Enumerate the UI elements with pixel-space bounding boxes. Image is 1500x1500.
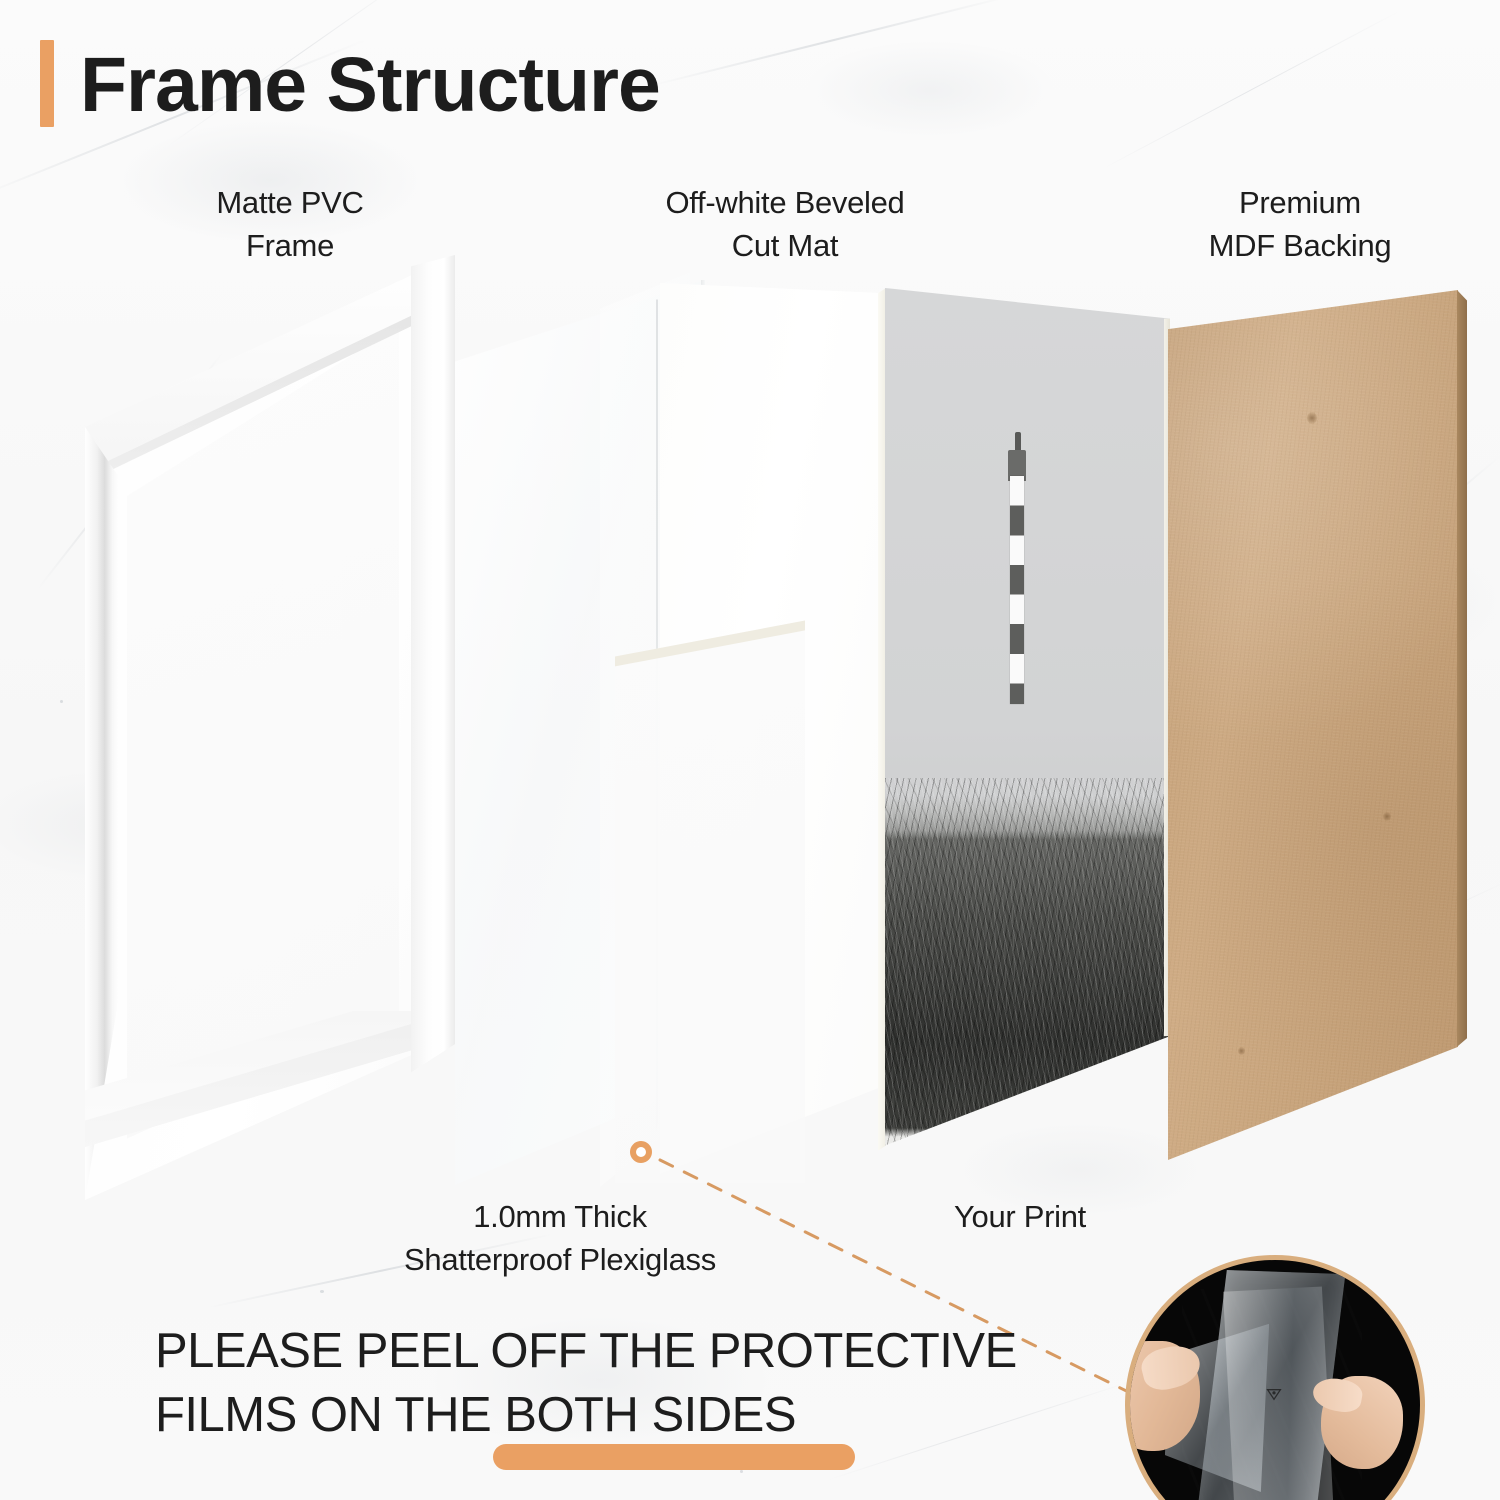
peel-warning-text: PLEASE PEEL OFF THE PROTECTIVE FILMS ON … (155, 1320, 1075, 1447)
mdf-knot (1383, 812, 1391, 821)
dune-grass (885, 778, 1170, 1146)
print-photo (885, 288, 1170, 1163)
layer-mdf-backing (1168, 290, 1458, 1160)
mdf-knot (1238, 1047, 1245, 1055)
warning-line-2-highlight: BOTH SIDES (504, 1388, 796, 1442)
warning-line-1: PLEASE PEEL OFF THE PROTECTIVE (155, 1320, 1075, 1384)
label-line: Shatterproof Plexiglass (280, 1239, 840, 1282)
callout-marker-dot (630, 1141, 652, 1163)
frame-structure-infographic: Frame Structure Matte PVC Frame Off-whit… (0, 0, 1500, 1500)
warning-line-2-prefix: FILMS ON THE (155, 1388, 504, 1442)
film-logo-icon (1266, 1388, 1282, 1401)
label-your-print: Your Print (880, 1196, 1160, 1239)
label-plexiglass: 1.0mm Thick Shatterproof Plexiglass (280, 1196, 840, 1282)
label-line: 1.0mm Thick (280, 1196, 840, 1239)
frame-right-rail (411, 255, 455, 1200)
label-line: Your Print (880, 1196, 1160, 1239)
highlight-underline (493, 1444, 855, 1470)
lighthouse-tower-icon (1010, 476, 1024, 704)
mdf-side-edge (1457, 290, 1467, 1160)
layer-pvc-frame (85, 255, 455, 1200)
print-left-edge (878, 288, 886, 1163)
layer-print (885, 288, 1170, 1163)
warning-line-2: FILMS ON THE BOTH SIDES (155, 1384, 796, 1448)
layer-cut-mat (660, 283, 900, 1183)
mdf-knot (1307, 412, 1317, 424)
